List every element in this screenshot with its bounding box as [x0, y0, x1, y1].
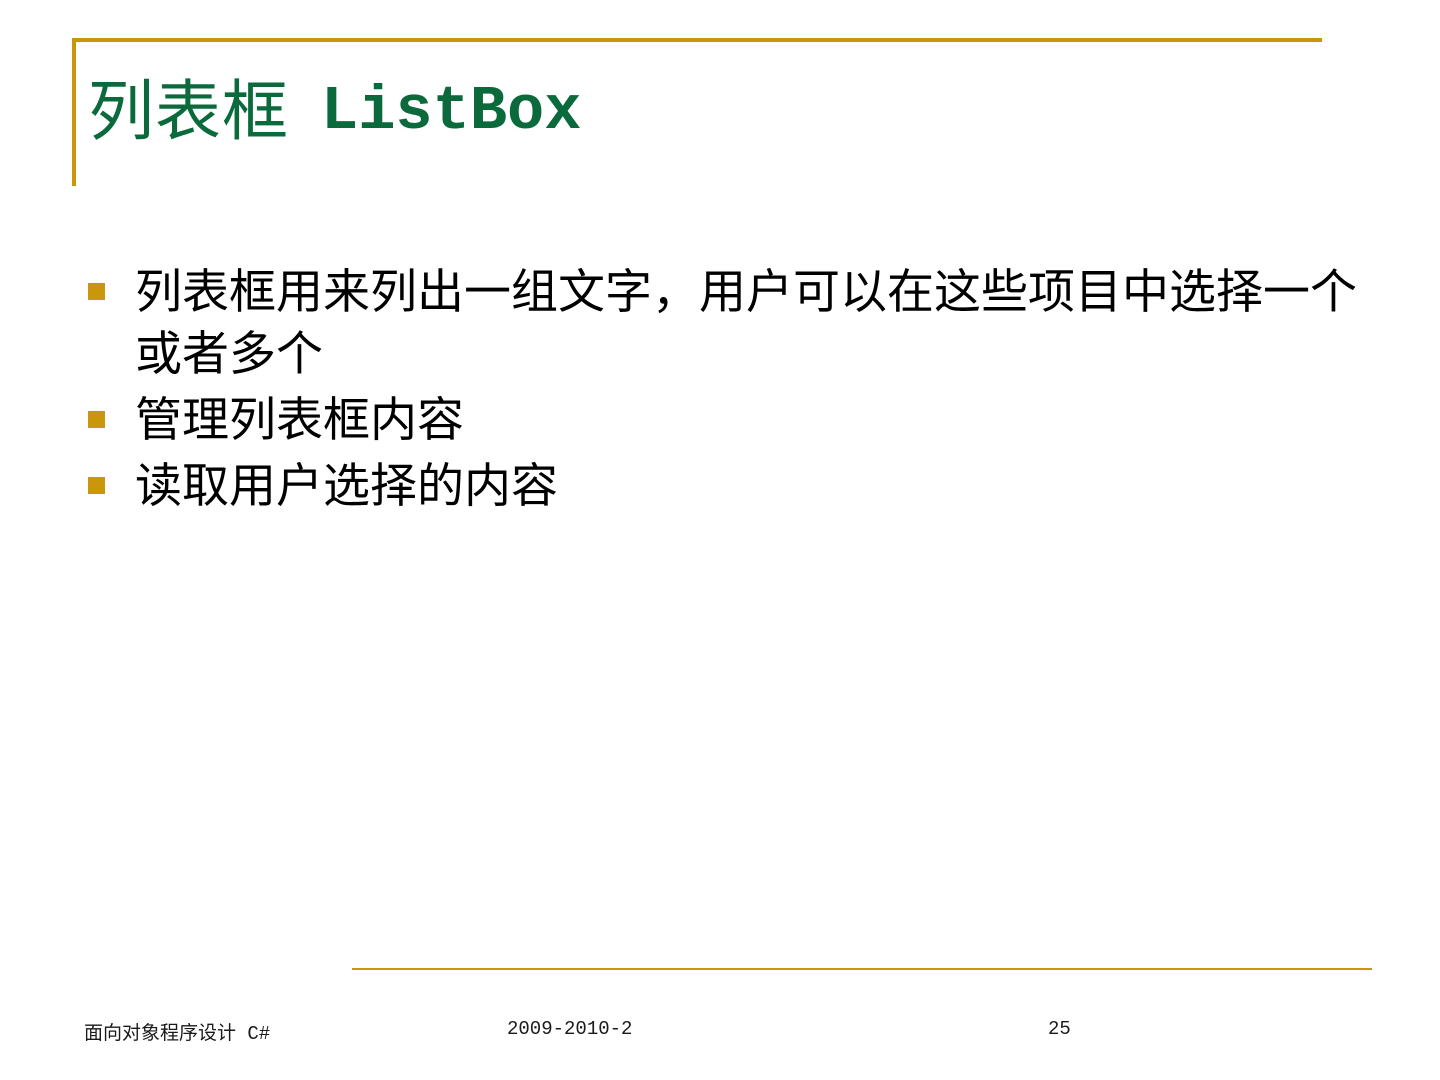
footer-rule: [352, 968, 1372, 970]
page-title-cjk: 列表框: [88, 79, 289, 145]
footer-page-number: 25: [1048, 1018, 1071, 1040]
list-item: 列表框用来列出一组文字，用户可以在这些项目中选择一个或者多个: [88, 262, 1388, 386]
list-item-label: 读取用户选择的内容: [135, 456, 1388, 518]
square-bullet-icon: [88, 411, 105, 428]
list-item-label: 管理列表框内容: [135, 390, 1388, 452]
list-item: 管理列表框内容: [88, 390, 1388, 452]
page-title-latin: ListBox: [321, 81, 581, 143]
footer-term-label: 2009-2010-2: [507, 1018, 632, 1040]
list-item: 读取用户选择的内容: [88, 456, 1388, 518]
title-left-rule: [72, 38, 76, 186]
square-bullet-icon: [88, 283, 105, 300]
list-item-label: 列表框用来列出一组文字，用户可以在这些项目中选择一个或者多个: [135, 262, 1388, 386]
bullet-list: 列表框用来列出一组文字，用户可以在这些项目中选择一个或者多个 管理列表框内容 读…: [88, 262, 1388, 522]
slide-canvas: 列表框 ListBox 列表框用来列出一组文字，用户可以在这些项目中选择一个或者…: [0, 0, 1440, 1080]
title-top-rule: [72, 38, 1322, 42]
square-bullet-icon: [88, 477, 105, 494]
page-title: 列表框 ListBox: [88, 52, 1348, 172]
footer-course-label: 面向对象程序设计 C#: [84, 1018, 270, 1045]
